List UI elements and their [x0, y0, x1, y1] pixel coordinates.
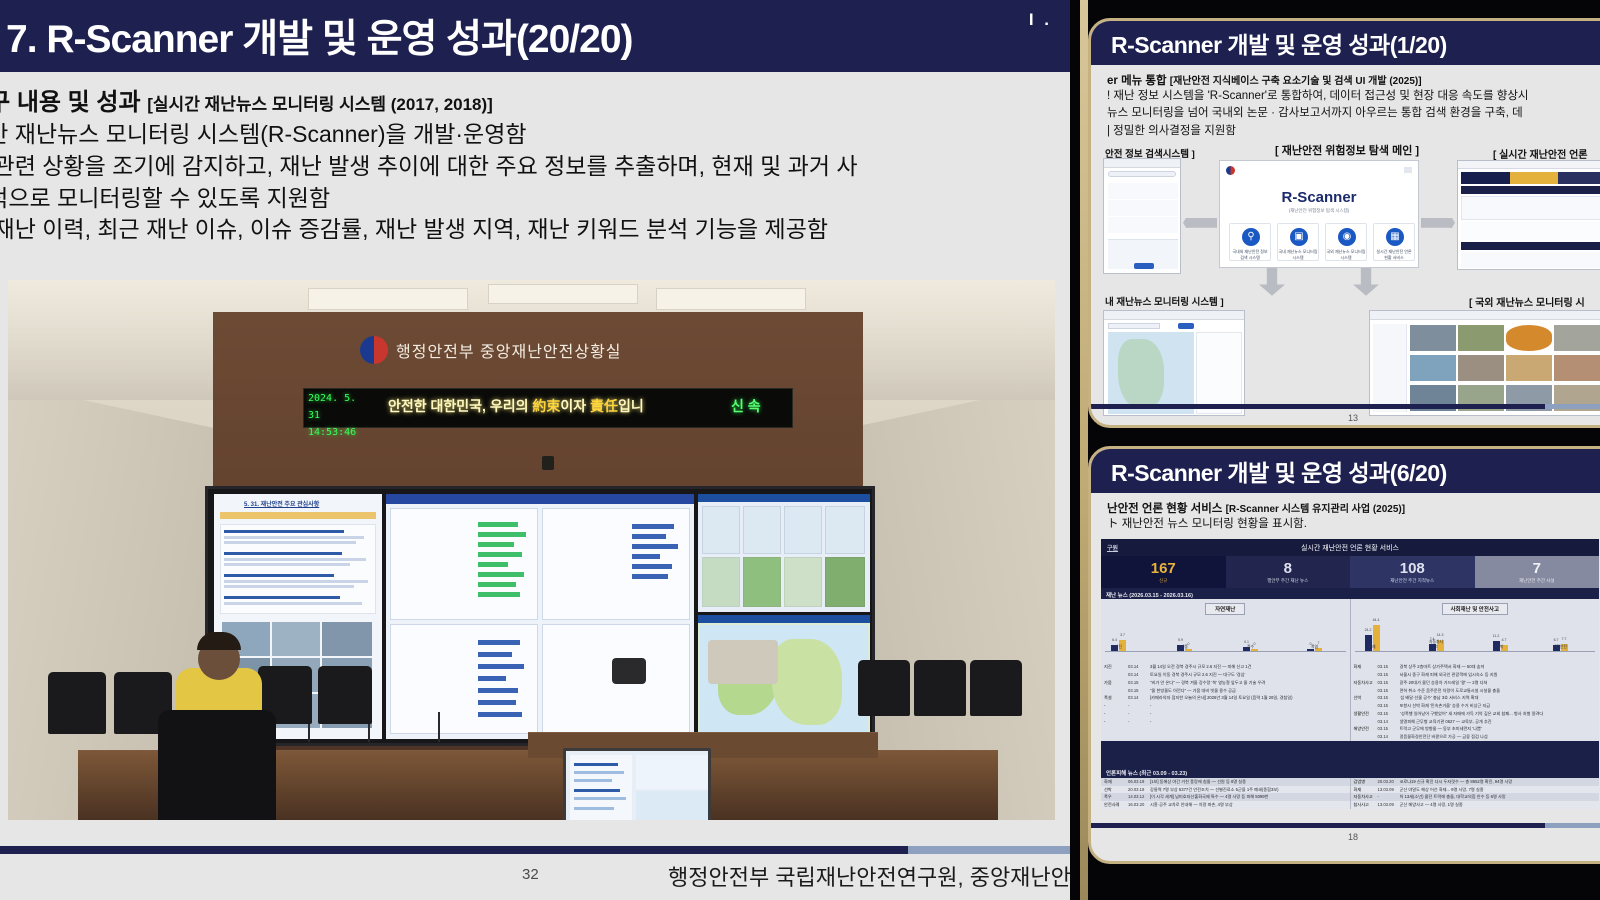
table-row: 가뭄03.15"비가 안 온다" — 경북 겨울 강수량 '쑥' 영농철 앞두고… [1101, 679, 1350, 687]
camera-icon [542, 456, 554, 470]
row-category: 안전사례 [1104, 801, 1128, 809]
thumb1-footer-rule [1091, 404, 1600, 409]
thumbnail-pane: R-Scanner 개발 및 운영 성과(1/20) er 메뉴 통합 [재난안… [1070, 0, 1600, 900]
row-category [1104, 671, 1128, 679]
body-bullet: 거 재난 이력, 최근 재난 이슈, 이슈 증감률, 재난 발생 지역, 재난 … [0, 214, 1070, 246]
body-bullet: 과적으로 모니터링할 수 있도록 지원함 [0, 183, 1070, 215]
table-row: 03.15"물 한방울도 아낀다" — 가뭄 대비 빗물 용수 공급 [1101, 687, 1350, 695]
row-text[interactable]: 포항시 선박 화재 '민속촌거울' 승용 수거 비상근 지급 [1400, 702, 1597, 710]
table-row: 화재06.03.19[1보] 동해상 야간 거친 풍랑에 침몰 — 선원 등 6… [1101, 778, 1350, 786]
footer-rule [0, 846, 1070, 854]
kpi-card[interactable]: 8 행안부 주간 재난 뉴스 [1226, 556, 1351, 588]
row-date: 03.15 [1128, 687, 1150, 695]
briefcase-icon: ▣ [1290, 228, 1308, 246]
row-category [1354, 718, 1378, 726]
table-left: 지진03.143월 14일 오전 경북 경주시 규모 2.6 지진 — 피해 신… [1101, 661, 1350, 725]
slide-footer: 32 행정안전부 국립재난안전연구원, 중앙재난안전 [0, 854, 1070, 900]
rscanner-tile[interactable]: ▣ 국내 재난뉴스 모니터링 시스템 [1277, 223, 1319, 261]
pane-natural-disaster: 자연재난 6.4 3.7 지진 5.9 0 [1101, 599, 1350, 741]
arrow-left-icon [1183, 218, 1217, 228]
table-row: 03.14토요일 이동 경북 경주시 규모 2.6 지진 — 대구도 '경심' [1101, 671, 1350, 679]
row-category: 폭우 [1104, 793, 1128, 801]
main-slide: 7. R-Scanner 개발 및 운영 성과(20/20) I . 연구 내용… [0, 0, 1070, 900]
rscanner-tile[interactable]: ⚲ 국내외 재난안전 정보 검색 시스템 [1229, 223, 1271, 261]
row-date: 03.15 [1378, 702, 1400, 710]
row-text[interactable]: 트럭고 군무에 방향물 — 동부 초미세먼지 '나쁨' [1400, 725, 1597, 733]
bottom-section: 화재06.03.19[1보] 동해상 야간 거친 풍랑에 침몰 — 선원 등 6… [1101, 778, 1599, 809]
table-row: --- [1101, 718, 1350, 726]
table-right: 화재03.15경북 상주 2층마트 상가주택서 화재 — 50대 숨져 03.1… [1351, 661, 1600, 741]
kpi-value: 167 [1151, 561, 1176, 576]
chart-right-xlabel: 생활안전 [1553, 645, 1568, 650]
thumb1-diagram: 안전 정보 검색시스템 ] [ 재난안전 위험정보 탐색 메인 ] [ 실시간 … [1091, 142, 1600, 404]
rscanner-tile[interactable]: ▦ 실시간 재난안전 언론 현황 서비스 [1373, 223, 1415, 261]
table-row: 폭설03.14[카메라의자 점지한 오늘의 온네] 2026년 3월 14일 토… [1101, 694, 1350, 702]
row-date: 13.03.09 [1378, 786, 1400, 794]
section-bar-1: 재난 뉴스 (2026.03.15 - 2026.03.16) [1101, 588, 1599, 599]
thumb1-line: ! 재난 정보 시스템을 'R-Scanner'로 통합하여, 데이터 접근성 … [1107, 88, 1600, 105]
row-category: 지진 [1104, 663, 1128, 671]
kpi-row: 167 신규 8 행안부 주간 재난 뉴스 108 재난안전 주간 지적뉴스 [1101, 556, 1599, 588]
dashboard-topbar: 구원 실시간 재난안전 언론 현황 서비스 [1101, 539, 1599, 556]
chart-left-xlabel: 태풍 [1177, 645, 1192, 650]
section-title-1: 재난 뉴스 (2026.03.15 - 2026.03.16) [1106, 591, 1193, 599]
thumb2-header: R-Scanner 개발 및 운영 성과(6/20) [1091, 449, 1600, 493]
table-row: 자동차사고03.15광주·20대가 몰던 승용차 가드레일 '쾅' — 2명 다… [1351, 679, 1600, 687]
caption-bottom-left: 내 재난뉴스 모니터링 시스템 ] [1105, 294, 1224, 308]
row-date: 03.14 [1128, 694, 1150, 702]
row-date: 03.15 [1128, 679, 1150, 687]
led-clock: 2024. 5. 31 14:53:46 [308, 390, 368, 426]
body-heading-bracket: [실시간 재난뉴스 모니터링 시스템 (2017, 2018)] [147, 95, 493, 114]
row-text[interactable]: [1보] 동해상 야간 거친 풍랑에 침몰 — 선원 등 6명 실종 [1150, 778, 1347, 786]
table-row: 선박20.03.19강릉역 7명 부상 5377건 안전조치 — 선별진료소 5… [1101, 786, 1350, 794]
mini-search-system [1103, 158, 1181, 274]
row-date: 03.15 [1378, 679, 1400, 687]
kpi-card[interactable]: 7 재난안전 주간 사설 [1475, 556, 1600, 588]
row-date: 03.15 [1378, 694, 1400, 702]
gold-divider [1080, 0, 1088, 900]
bottom-rows: 화재06.03.19[1보] 동해상 야간 거친 풍랑에 침몰 — 선원 등 6… [1101, 778, 1599, 809]
row-text[interactable]: [이 시각 세계] 남미호자산출화국제 특수 — 4명 사망 등 피해 5099… [1150, 793, 1347, 801]
chart-right-xlabel: 자동차사고 [1429, 640, 1444, 650]
kpi-label: 재난안전 주간 지적뉴스 [1390, 578, 1434, 584]
table-row: 03.15면허 취소 수준 음주운전 차량이 도로교통시설 시설물 충돌 [1351, 687, 1600, 695]
row-text[interactable]: 3월 14일 오전 경북 경주시 규모 2.6 지진 — 피해 신고 1건 [1150, 663, 1347, 671]
row-category: 자동차사고 [1354, 679, 1378, 687]
row-date: - [1378, 793, 1400, 801]
chair [858, 660, 910, 716]
row-category [1354, 671, 1378, 679]
row-category: 폭설 [1104, 694, 1128, 702]
cctv-thumb [272, 622, 320, 656]
row-date: 03.15 [1378, 710, 1400, 718]
dashboard-panes: 자연재난 6.4 3.7 지진 5.9 0 [1101, 599, 1599, 741]
table-row: 화재13.03.09군산 야말도 해상 어선 화재... 9명 사망, 7명 실… [1351, 786, 1600, 794]
row-date: 03.14 [1378, 733, 1400, 741]
body-heading-main: 연구 내용 및 성과 [0, 89, 141, 116]
row-category: - [1104, 702, 1128, 710]
wall-screen-title: 5. 31. 재난안전 주요 관심사항 [244, 499, 319, 508]
row-text[interactable]: [카메라의자 점지한 오늘의 온네] 2026년 3월 14일 토요일 (음력 … [1150, 694, 1347, 702]
dashboard: 구원 실시간 재난안전 언론 현황 서비스 167 신규 8 행안부 주간 재난… [1101, 539, 1599, 809]
row-date: 03.14 [1128, 663, 1150, 671]
pane-caption-left: 자연재난 [1205, 603, 1245, 615]
thumb2-subhead: 난안전 언론 현황 서비스 [R-Scanner 시스템 유지관리 사업 (20… [1107, 500, 1600, 516]
led-time: 14:53:46 [308, 424, 368, 441]
table-row: 화재03.15경북 상주 2층마트 상가주택서 화재 — 50대 숨져 [1351, 663, 1600, 671]
kpi-value: 108 [1400, 561, 1425, 576]
mini-domestic-news-map [1103, 310, 1245, 416]
row-date: - [1128, 710, 1150, 718]
row-category [1354, 702, 1378, 710]
row-text[interactable]: - [1150, 702, 1347, 710]
desk-monitor [563, 748, 711, 820]
table-row: 03.15서울시 중구 화재 피해 외국인 관광객에 임시숙소 등 지원 [1351, 671, 1600, 679]
row-date: 03.14 [1378, 718, 1400, 726]
rscanner-tagline: (재난안전 위험정보 탐색 시스템) [1220, 208, 1418, 214]
rscanner-tile-label: 국내 재난뉴스 모니터링 시스템 [1278, 249, 1318, 261]
caption-top-center: [ 재난안전 위험정보 탐색 메인 ] [1275, 142, 1419, 158]
thumb1-line: 뉴스 모니터링을 넘어 국내외 논문 · 감사보고서까지 아우르는 통합 검색 … [1107, 105, 1600, 122]
led-message-hanja1: 約束 [532, 398, 560, 414]
led-message-hanja2: 責任 [590, 398, 618, 414]
row-text[interactable]: 생명피해 근무형 교육기관 0627 — 교육부, 공개 추진 [1400, 718, 1597, 726]
row-text[interactable]: 토요일 이동 경북 경주시 규모 2.6 지진 — 대구도 '경심' [1150, 671, 1347, 679]
globe-icon: ◉ [1338, 228, 1356, 246]
bottom-col-right: 감염병20.03.20코로나19 신규 확진 다시 두자릿수 — 총 8652명… [1350, 778, 1600, 809]
slide-body: 연구 내용 및 성과 [실시간 재난뉴스 모니터링 시스템 (2017, 201… [0, 86, 1070, 246]
row-text[interactable]: 얼음물화경안전단 바깥으로 가공 — 금융 점검 나섬 [1400, 733, 1597, 741]
arrow-down-icon [1259, 268, 1285, 296]
chair [48, 672, 106, 734]
row-category: 참사사고 [1354, 801, 1378, 809]
table-row: --- [1101, 702, 1350, 710]
row-category: 감염병 [1354, 778, 1378, 786]
page-title: 7. R-Scanner 개발 및 운영 성과(20/20) [6, 8, 633, 64]
row-text[interactable]: "성폭행 일어났어 구했었어" 새 자매에 가득 기억 깊은 교회 참패... … [1400, 710, 1597, 718]
conference-speaker [612, 658, 646, 684]
slide-header: 7. R-Scanner 개발 및 운영 성과(20/20) I . [0, 0, 1070, 72]
ministry-label: 행정안전부 중앙재난안전상황실 [396, 338, 622, 362]
kpi-label: 재난안전 주간 사설 [1519, 578, 1555, 584]
thumb2-page-number: 18 [1091, 828, 1600, 842]
body-bullet: 난 관련 상황을 조기에 감지하고, 재난 발생 추이에 대한 주요 정보를 추… [0, 151, 1070, 183]
row-date: 14.03.12 [1128, 793, 1150, 801]
table-row: 03.14생명피해 근무형 교육기관 0627 — 교육부, 공개 추진 [1351, 718, 1600, 726]
table-row: 해양안전03.15트럭고 군무에 방향물 — 동부 초미세먼지 '나쁨' [1351, 725, 1600, 733]
thumb2-dashboard-wrap: 구원 실시간 재난안전 언론 현황 서비스 167 신규 8 행안부 주간 재난… [1091, 539, 1600, 819]
thumbnail-slide-1[interactable]: R-Scanner 개발 및 운영 성과(1/20) er 메뉴 통합 [재난안… [1088, 18, 1600, 428]
row-category [1354, 733, 1378, 741]
led-message-part2: 이자 [560, 398, 590, 414]
row-category [1354, 687, 1378, 695]
row-date: 20.03.19 [1128, 786, 1150, 794]
row-category: 가뭄 [1104, 679, 1128, 687]
page-number: 32 [522, 866, 539, 883]
row-category: 생활안전 [1354, 710, 1378, 718]
led-message-tail: 신 속 [731, 396, 761, 416]
thumb1-subtext: er 메뉴 통합 [재난안전 지식베이스 구축 요소기술 및 검색 UI 개발 … [1091, 65, 1600, 142]
rscanner-tile-label: 국외 재난뉴스 모니터링 시스템 [1326, 249, 1366, 261]
row-date: 13.03.09 [1378, 801, 1400, 809]
row-category: 화재 [1104, 778, 1128, 786]
row-category: - [1104, 718, 1128, 726]
thumb2-subtext: 난안전 언론 현황 서비스 [R-Scanner 시스템 유지관리 사업 (20… [1091, 493, 1600, 539]
chart-left-xlabel: 폭염 [1307, 645, 1322, 650]
podium [708, 640, 778, 684]
situation-room-photo: 행정안전부 중앙재난안전상황실 2024. 5. 31 14:53:46 안전한… [8, 280, 1055, 820]
body-heading: 연구 내용 및 성과 [실시간 재난뉴스 모니터링 시스템 (2017, 201… [0, 86, 1070, 119]
row-category: 선박 [1354, 694, 1378, 702]
row-date: 06.03.19 [1128, 778, 1150, 786]
kpi-value: 8 [1284, 561, 1292, 576]
chart-left-xlabel: 지진 [1111, 645, 1126, 650]
dashboard-divider [1101, 741, 1599, 767]
thumb2-subhead-main: 난안전 언론 현황 서비스 [1107, 503, 1222, 515]
chart-right: 24.2 44.4 화재 7.4 14.3 자동차사고 [1351, 617, 1600, 661]
rscanner-tile-label: 국내외 재난안전 정보 검색 시스템 [1230, 249, 1270, 261]
row-date: - [1128, 702, 1150, 710]
row-category: 화재 [1354, 663, 1378, 671]
chart-left: 6.4 3.7 지진 5.9 0 태풍 0.1 [1101, 617, 1350, 661]
wall-screen-weather [698, 494, 870, 612]
table-row: 지진03.143월 14일 오전 경북 경주시 규모 2.6 지진 — 피해 신… [1101, 663, 1350, 671]
section-bar-2: 언론피해 뉴스 (최근 03.09 - 03.23) [1101, 767, 1599, 778]
table-row: 03.14얼음물화경안전단 바깥으로 가공 — 금융 점검 나섬 [1351, 733, 1600, 741]
row-date: 03.15 [1378, 663, 1400, 671]
mini-overseas-news [1369, 310, 1600, 416]
report-icon: ▦ [1386, 228, 1404, 246]
table-row: --- [1101, 710, 1350, 718]
dashboard-header-title: 실시간 재난안전 언론 현황 서비스 [1101, 543, 1599, 553]
body-bullet: 시간 재난뉴스 모니터링 시스템(R-Scanner)을 개발·운영함 [0, 119, 1070, 151]
thumb2-title: R-Scanner 개발 및 운영 성과(6/20) [1111, 454, 1447, 488]
table-row: 자동차사고-허 13세(소년) 몰던 트럭에 충돌, 대학교의힘 안수 등 6명… [1351, 793, 1600, 801]
row-text[interactable]: 경북 상주 2층마트 상가주택서 화재 — 50대 숨져 [1400, 663, 1597, 671]
row-text[interactable]: "비가 안 온다" — 경북 겨울 강수량 '쑥' 영농철 앞두고 물 기술 우… [1150, 679, 1347, 687]
row-text[interactable]: 서울시 중구 화재 피해 외국인 관광객에 임시숙소 등 지원 [1400, 671, 1597, 679]
led-message-part3: 입니 [618, 398, 644, 414]
row-text[interactable]: 코로나19 신규 확진 다시 두자릿수 — 총 8652명 확진, 94명 사망 [1400, 778, 1597, 786]
kpi-card[interactable]: 108 재난안전 주간 지적뉴스 [1350, 556, 1475, 588]
row-date: 03.14 [1128, 671, 1150, 679]
row-category [1104, 687, 1128, 695]
chart-right-xlabel: 선박 [1493, 645, 1508, 650]
row-text[interactable]: '섬 배달·선물 공수' 충남 3호 서비스 지역 확대 [1400, 694, 1597, 702]
ceiling-light [488, 284, 638, 304]
kpi-label: 행안부 주간 재난 뉴스 [1267, 578, 1308, 584]
row-category: 해양안전 [1354, 725, 1378, 733]
pane-social-disaster: 사회재난 및 안전사고 24.2 44.4 화재 7.4 [1350, 599, 1600, 741]
chart-left-xlabel: 풍수 [1243, 645, 1258, 650]
caption-top-right: [ 실시간 재난안전 언론 [1493, 146, 1587, 161]
row-category: - [1104, 710, 1128, 718]
thumb2-footer-rule [1091, 823, 1600, 828]
mini-press-status [1457, 160, 1600, 270]
thumb1-subhead-main: er 메뉴 통합 [1107, 75, 1167, 87]
arrow-down-icon [1353, 268, 1379, 296]
cctv-thumb [322, 622, 372, 656]
screenshot-root: 7. R-Scanner 개발 및 운영 성과(20/20) I . 연구 내용… [0, 0, 1600, 900]
led-date: 2024. 5. 31 [308, 390, 368, 424]
kpi-value: 7 [1533, 561, 1541, 576]
table-row: 생활안전03.15"성폭행 일어났어 구했었어" 새 자매에 가득 기억 깊은 … [1351, 710, 1600, 718]
row-date: 03.15 [1378, 725, 1400, 733]
kpi-label: 신규 [1159, 578, 1167, 584]
thumb1-line: | 정밀한 의사결정을 지원함 [1107, 123, 1600, 140]
thumb1-title: R-Scanner 개발 및 운영 성과(1/20) [1111, 26, 1447, 60]
caption-bottom-right: [ 국외 재난뉴스 모니터링 시 [1469, 294, 1585, 309]
pane-caption-right: 사회재난 및 안전사고 [1442, 603, 1508, 615]
row-date: 16.03.20 [1128, 801, 1150, 809]
table-row: 03.15포항시 선박 화재 '민속촌거울' 승용 수거 비상근 지급 [1351, 702, 1600, 710]
rscanner-tile[interactable]: ◉ 국외 재난뉴스 모니터링 시스템 [1325, 223, 1367, 261]
row-text[interactable]: 군산 야말도 해상 어선 화재... 9명 사망, 7명 실종 [1400, 786, 1597, 794]
row-date: 03.15 [1378, 687, 1400, 695]
bottom-col-left: 화재06.03.19[1보] 동해상 야간 거친 풍랑에 침몰 — 선원 등 6… [1101, 778, 1350, 809]
ceiling-light [656, 288, 806, 310]
row-text[interactable]: 광주·20대가 몰던 승용차 가드레일 '쾅' — 2명 다쳐 [1400, 679, 1597, 687]
center-screen-topbar [386, 494, 694, 504]
table-row: 감염병20.03.20코로나19 신규 확진 다시 두자릿수 — 총 8652명… [1351, 778, 1600, 786]
led-message-part1: 안전한 대한민국, 우리의 [388, 398, 532, 414]
row-category: 자동차사고 [1354, 793, 1378, 801]
thumb1-subhead-bracket: [재난안전 지식베이스 구축 요소기술 및 검색 UI 개발 (2025)] [1170, 76, 1422, 87]
row-text[interactable]: 면허 취소 수준 음주운전 차량이 도로교통시설 시설물 충돌 [1400, 687, 1597, 695]
table-row: 폭우14.03.12[이 시각 세계] 남미호자산출화국제 특수 — 4명 사망… [1101, 793, 1350, 801]
row-category: 화재 [1354, 786, 1378, 794]
table-row: 안전사례16.03.20시흥·공주 교차로 안내해 — 차량 파손, 4명 부상 [1101, 801, 1350, 809]
chair [914, 660, 966, 716]
row-date: 20.03.20 [1378, 778, 1400, 786]
chapter-marker: I . [1029, 10, 1052, 30]
wall-screen-tabbar [220, 512, 376, 519]
row-text[interactable]: 군산 해양사고 — 4명 사망, 1명 실종 [1400, 801, 1597, 809]
table-row: 선박03.15'섬 배달·선물 공수' 충남 3호 서비스 지역 확대 [1351, 694, 1600, 702]
row-text[interactable]: 시흥·공주 교차로 안내해 — 차량 파손, 4명 부상 [1150, 801, 1347, 809]
search-icon: ⚲ [1242, 228, 1260, 246]
chart-right-xlabel: 화재 [1365, 645, 1380, 650]
thumb1-subhead: er 메뉴 통합 [재난안전 지식베이스 구축 요소기술 및 검색 UI 개발 … [1107, 72, 1600, 88]
row-text[interactable]: "물 한방울도 아낀다" — 가뭄 대비 빗물 용수 공급 [1150, 687, 1347, 695]
row-text[interactable]: 허 13세(소년) 몰던 트럭에 충돌, 대학교의힘 안수 등 6명 사망 [1400, 793, 1597, 801]
chair [970, 660, 1022, 716]
led-message: 안전한 대한민국, 우리의 約束이자 責任입니 [388, 396, 644, 416]
wall-screen-center [386, 494, 694, 739]
thumb1-header: R-Scanner 개발 및 운영 성과(1/20) [1091, 21, 1600, 65]
table-row: 참사사고13.03.09군산 해양사고 — 4명 사망, 1명 실종 [1351, 801, 1600, 809]
thumb2-line: ト 재난안전 뉴스 모니터링 현황을 표시함. [1107, 516, 1600, 533]
government-emblem-icon [360, 336, 388, 364]
thumbnail-slide-2[interactable]: R-Scanner 개발 및 운영 성과(6/20) 난안전 언론 현황 서비스… [1088, 446, 1600, 864]
thumb2-subhead-bracket: [R-Scanner 시스템 유지관리 사업 (2025)] [1226, 504, 1406, 515]
row-category: 선박 [1104, 786, 1128, 794]
chair [318, 666, 372, 724]
chair [158, 710, 276, 820]
ceiling-light [308, 288, 468, 310]
row-text[interactable]: 강릉역 7명 부상 5377건 안전조치 — 선별진료소 5군을 1주 폐쇄(종… [1150, 786, 1347, 794]
row-date: 03.15 [1378, 671, 1400, 679]
section-title-2: 언론피해 뉴스 (최근 03.09 - 03.23) [1106, 769, 1187, 777]
rscanner-tile-label: 실시간 재난안전 언론 현황 서비스 [1374, 249, 1414, 261]
organization-name: 행정안전부 국립재난안전연구원, 중앙재난안전 [668, 860, 1070, 892]
rscanner-brand: R-Scanner [1220, 189, 1418, 206]
arrow-right-icon [1421, 218, 1455, 228]
row-text[interactable]: - [1150, 710, 1347, 718]
kpi-card[interactable]: 167 신규 [1101, 556, 1226, 588]
logo-icon [1226, 166, 1235, 175]
rscanner-main-screen: R-Scanner (재난안전 위험정보 탐색 시스템) ⚲ 국내외 재난안전 … [1219, 160, 1419, 268]
row-text[interactable]: - [1150, 718, 1347, 726]
row-date: - [1128, 718, 1150, 726]
